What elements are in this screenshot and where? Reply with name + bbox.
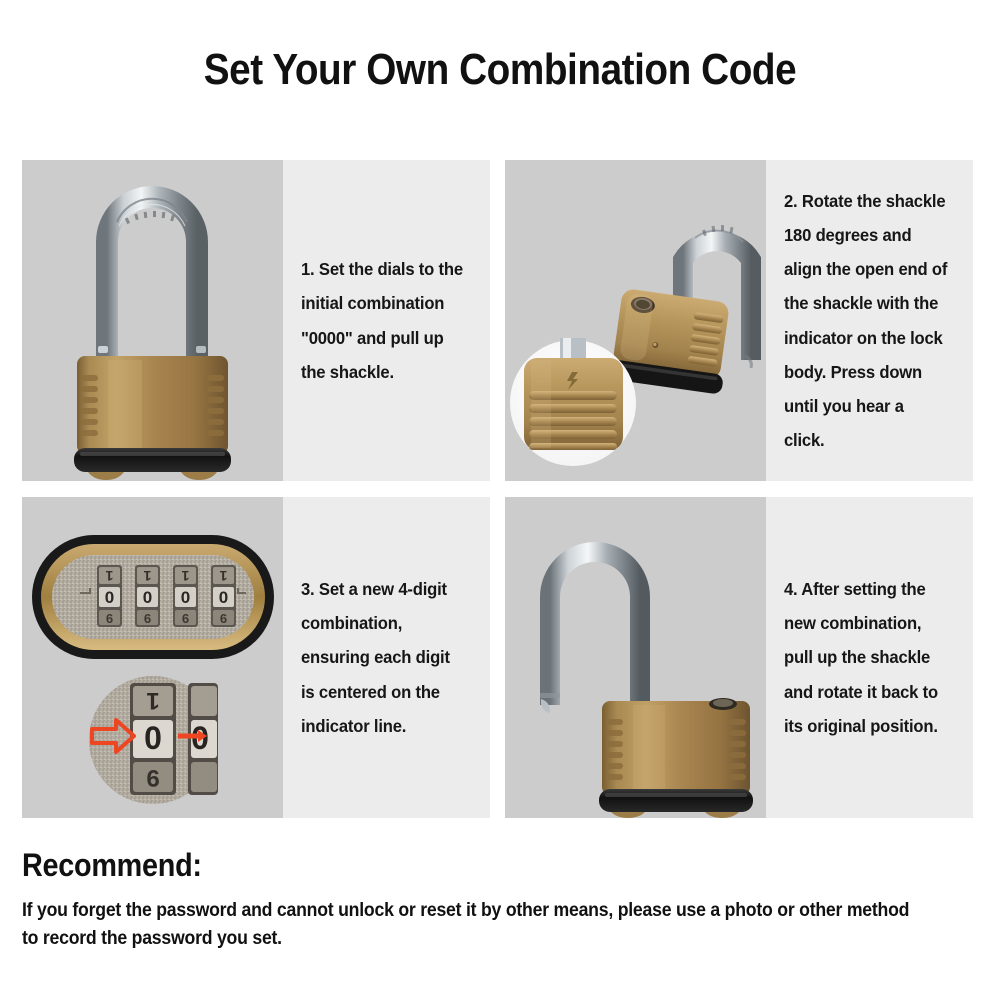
svg-text:9: 9 (106, 611, 113, 626)
page-title: Set Your Own Combination Code (60, 48, 940, 92)
svg-text:1: 1 (219, 568, 227, 584)
svg-text:1: 1 (105, 568, 113, 584)
step-text-panel-4: 4. After setting the new combination, pu… (766, 497, 973, 818)
padlock-closed-front-figure (22, 160, 283, 481)
svg-text:0: 0 (144, 720, 162, 756)
svg-text:0: 0 (181, 588, 190, 607)
recommend-body-text: If you forget the password and cannot un… (22, 897, 911, 952)
step-instruction-3: 3. Set a new 4-digit combination, ensuri… (301, 572, 465, 743)
svg-text:0: 0 (105, 588, 114, 607)
svg-text:1: 1 (146, 687, 159, 714)
padlock-closed-front-icon (22, 160, 283, 481)
svg-text:9: 9 (144, 611, 151, 626)
padlock-dial-face-figure: 1 0 9 1 0 9 (22, 497, 283, 818)
recommend-section: Recommend: If you forget the password an… (22, 848, 978, 952)
svg-text:1: 1 (181, 568, 189, 584)
recommend-heading: Recommend: (22, 848, 882, 883)
step-card-2: 2. Rotate the shackle 180 degrees and al… (505, 160, 973, 481)
svg-text:0: 0 (143, 588, 152, 607)
dial-zoom-inset: 1 0 9 0 (89, 676, 218, 804)
step-instruction-4: 4. After setting the new combination, pu… (784, 572, 948, 743)
svg-text:9: 9 (220, 611, 227, 626)
step-instruction-1: 1. Set the dials to the initial combinat… (301, 252, 465, 389)
step-instruction-2: 2. Rotate the shackle 180 degrees and al… (784, 184, 948, 457)
padlock-open-figure (505, 497, 766, 818)
svg-text:9: 9 (182, 611, 189, 626)
padlock-shackle-rotated-icon (505, 160, 766, 481)
steps-grid: 1. Set the dials to the initial combinat… (22, 160, 978, 818)
step-card-3: 1 0 9 1 0 9 (22, 497, 490, 818)
padlock-dial-face-icon: 1 0 9 1 0 9 (22, 497, 283, 818)
step-text-panel-1: 1. Set the dials to the initial combinat… (283, 160, 490, 481)
svg-text:0: 0 (219, 588, 228, 607)
svg-text:1: 1 (143, 568, 151, 584)
svg-text:9: 9 (146, 764, 159, 791)
padlock-open-shackle-up-icon (505, 497, 766, 818)
step-card-4: 4. After setting the new combination, pu… (505, 497, 973, 818)
step-card-1: 1. Set the dials to the initial combinat… (22, 160, 490, 481)
step-text-panel-2: 2. Rotate the shackle 180 degrees and al… (766, 160, 973, 481)
padlock-shackle-rotated-figure (505, 160, 766, 481)
step-text-panel-3: 3. Set a new 4-digit combination, ensuri… (283, 497, 490, 818)
